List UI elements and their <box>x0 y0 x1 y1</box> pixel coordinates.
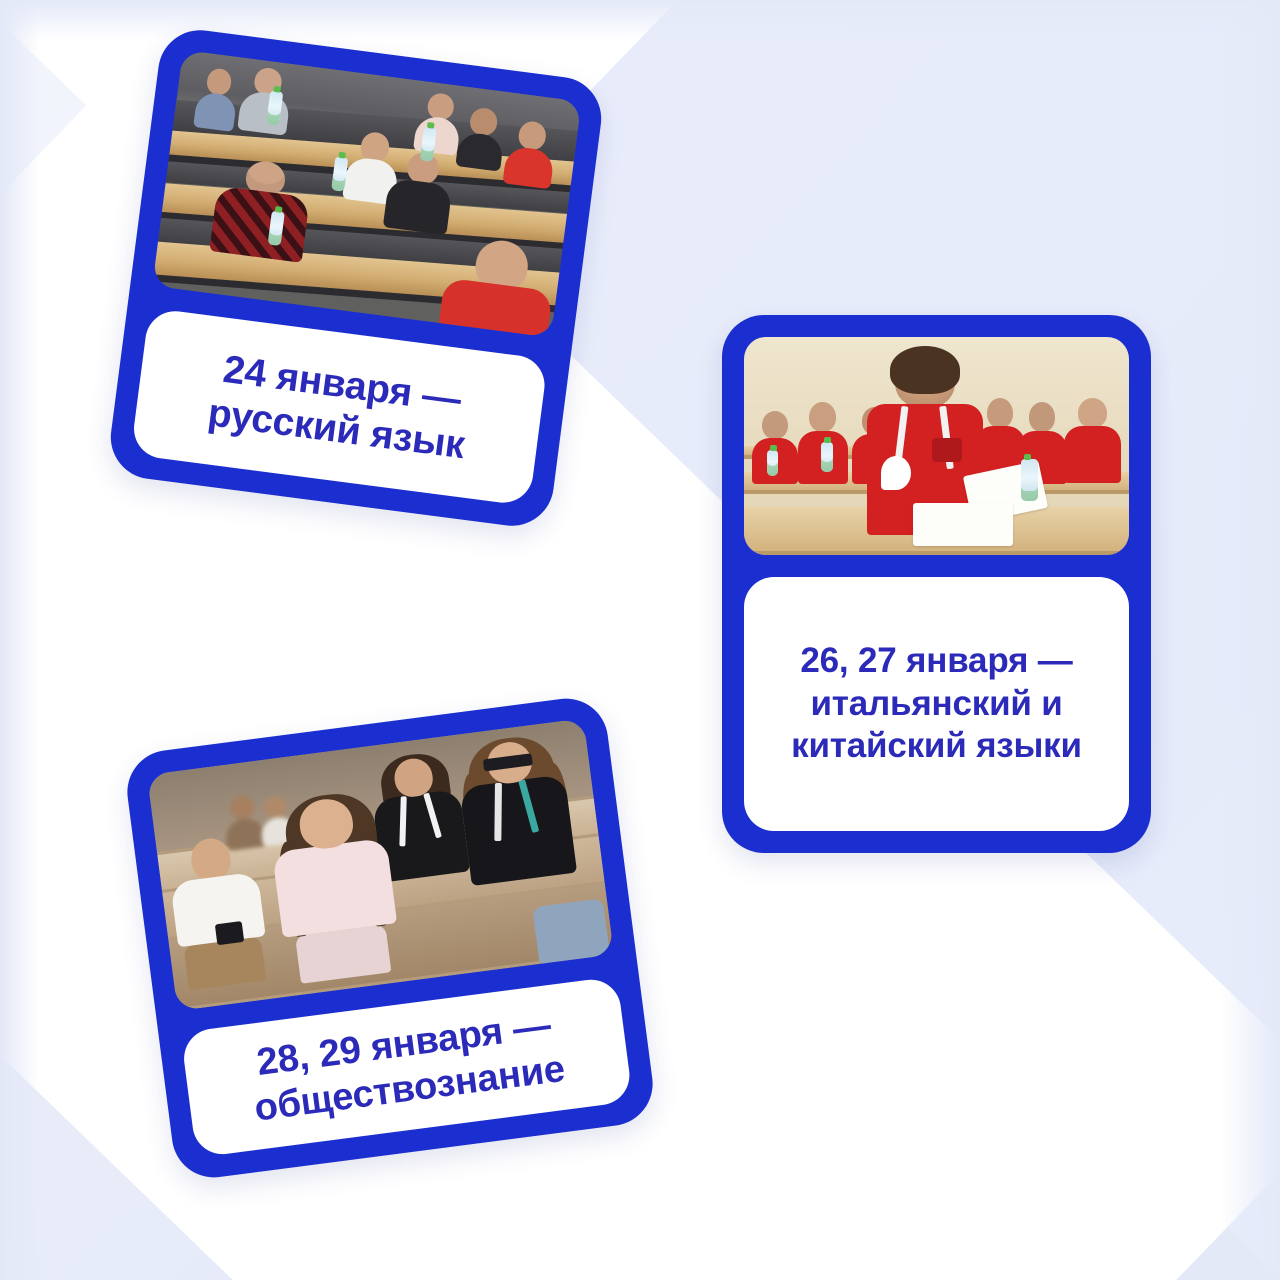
card-label-text-russian: 24 января — русский язык <box>150 338 529 475</box>
card-label-social-studies: 28, 29 января — обществознание <box>180 976 633 1158</box>
card-photo-languages <box>744 337 1129 555</box>
card-photo-social-studies <box>147 718 614 1011</box>
card-label-languages: 26, 27 января — итальянский и китайский … <box>744 577 1129 831</box>
card-label-text-social-studies: 28, 29 января — обществознание <box>199 996 615 1137</box>
schedule-card-russian[interactable]: 24 января — русский язык <box>106 25 607 531</box>
schedule-card-social-studies[interactable]: 28, 29 января — обществознание <box>122 694 657 1183</box>
card-label-text-languages: 26, 27 января — итальянский и китайский … <box>760 640 1113 768</box>
background-right-edge <box>1220 0 1280 1280</box>
schedule-card-languages[interactable]: 26, 27 января — итальянский и китайский … <box>722 315 1151 853</box>
lecture-hall-illustration <box>152 50 581 338</box>
exam-room-illustration <box>744 337 1129 555</box>
card-photo-russian <box>152 50 581 338</box>
card-label-russian: 24 января — русский язык <box>130 308 548 507</box>
students-on-steps-illustration <box>147 718 614 1011</box>
background-left-edge <box>0 0 40 1280</box>
